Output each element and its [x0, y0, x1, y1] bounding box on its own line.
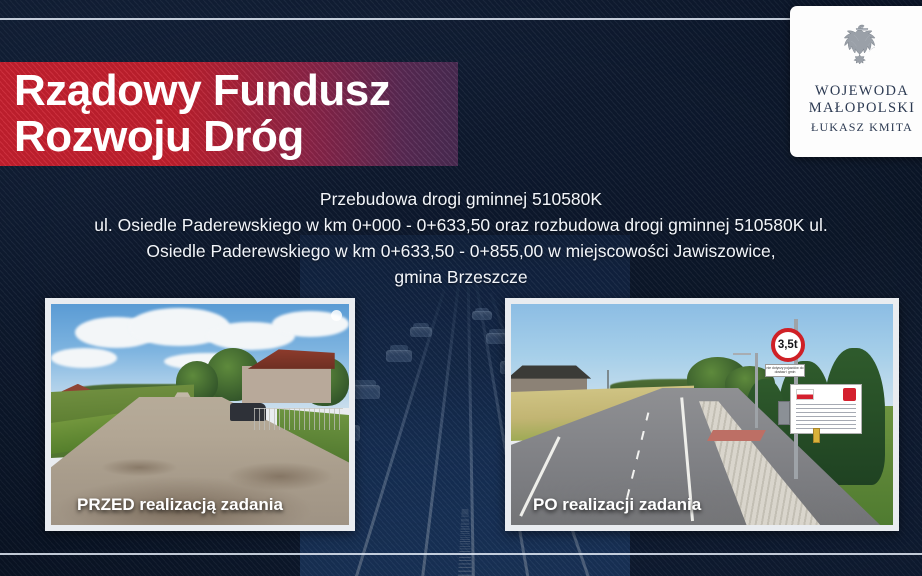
- streetlamp-arm: [733, 353, 751, 355]
- circle-watermark-icon: [331, 310, 342, 321]
- highway-car: [472, 311, 492, 320]
- photo-after[interactable]: 3,5t nie dotyczy pojazdów do dostaw i gm…: [505, 298, 899, 531]
- national-emblem-icon: [843, 388, 856, 401]
- streetlamp-pole: [755, 353, 758, 428]
- description-line-3: Osiedle Paderewskiego w km 0+633,50 - 0+…: [4, 238, 918, 264]
- photo-before-caption: PRZED realizacją zadania: [77, 495, 283, 515]
- fence: [254, 408, 343, 430]
- gas-cabinet: [813, 428, 820, 443]
- polish-eagle-icon: [834, 22, 890, 74]
- red-paving-crossing: [707, 430, 766, 441]
- description-line-2: ul. Osiedle Paderewskiego w km 0+000 - 0…: [4, 212, 918, 238]
- voivode-logo-card: WOJEWODA MAŁOPOLSKI ŁUKASZ KMITA: [790, 6, 922, 157]
- info-board-text: [796, 404, 856, 430]
- description-line-4: gmina Brzeszcze: [4, 264, 918, 290]
- house-with-red-roof: [242, 366, 331, 404]
- highway-car: [386, 350, 412, 362]
- polish-flag-icon: [796, 389, 814, 400]
- photo-after-image: 3,5t nie dotyczy pojazdów do dostaw i gm…: [511, 304, 893, 525]
- supplementary-plate: nie dotyczy pojazdów do dostaw i gmin: [765, 364, 805, 377]
- logo-line-malopolski: MAŁOPOLSKI: [809, 100, 915, 117]
- bottom-divider-line: [0, 553, 922, 555]
- project-info-board: [790, 384, 862, 434]
- photo-before-image: PRZED realizacją zadania: [51, 304, 349, 525]
- photo-before[interactable]: PRZED realizacją zadania: [45, 298, 355, 531]
- weight-limit-sign: 3,5t: [771, 328, 805, 362]
- logo-line-name: ŁUKASZ KMITA: [811, 120, 913, 135]
- top-divider-line: [0, 18, 922, 20]
- slide-canvas: Rządowy Fundusz Rozwoju Dróg WOJEWODA MA…: [0, 0, 922, 576]
- program-title-line1: Rządowy Fundusz: [14, 68, 458, 114]
- project-description: Przebudowa drogi gminnej 510580K ul. Osi…: [0, 186, 922, 290]
- logo-line-wojewoda: WOJEWODA: [815, 83, 909, 100]
- title-banner: Rządowy Fundusz Rozwoju Dróg: [0, 62, 458, 166]
- utility-cabinet: [778, 401, 790, 425]
- highway-car: [410, 327, 432, 337]
- description-line-1: Przebudowa drogi gminnej 510580K: [4, 186, 918, 212]
- program-title-line2: Rozwoju Dróg: [14, 114, 458, 160]
- cloud: [51, 348, 117, 368]
- photo-after-caption: PO realizacji zadania: [533, 495, 701, 515]
